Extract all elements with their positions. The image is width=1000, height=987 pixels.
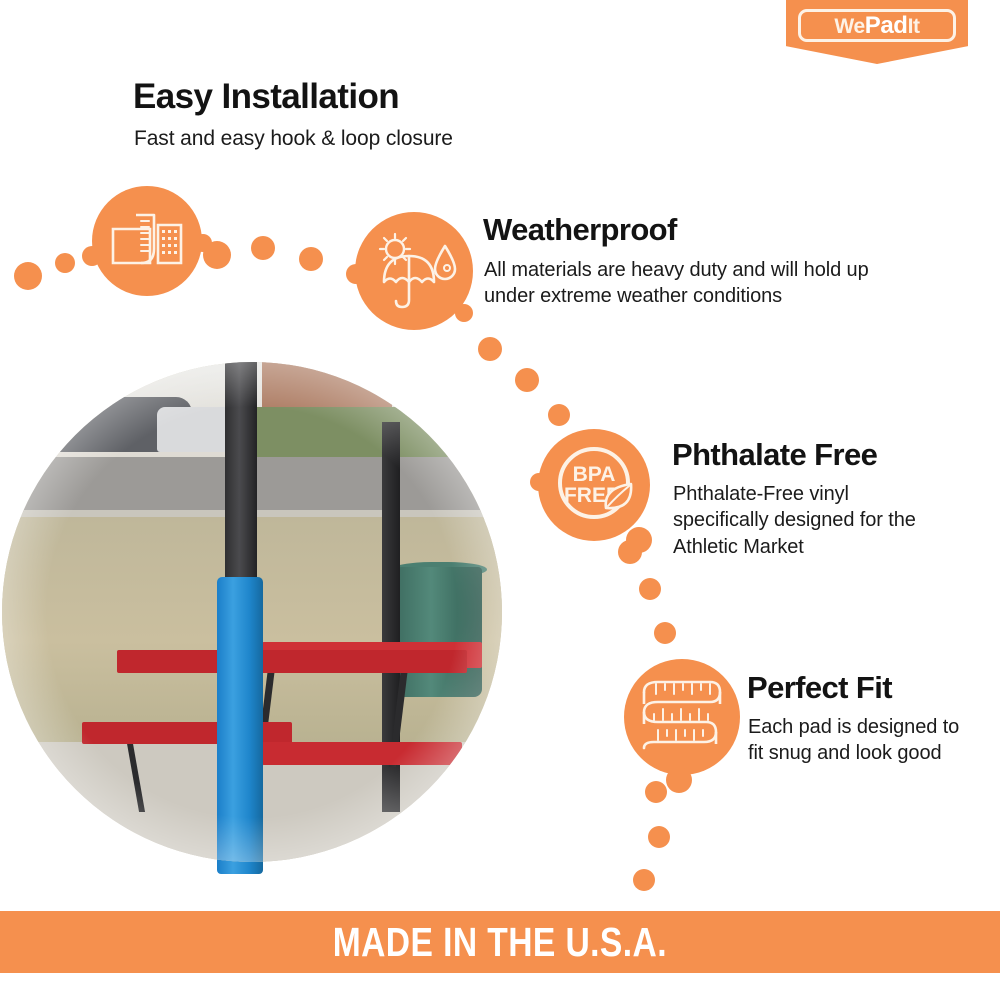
circle-nub bbox=[194, 234, 212, 252]
brand-logo-pad: Pad bbox=[865, 12, 908, 39]
sun-umbrella-raindrop-icon bbox=[355, 212, 473, 330]
trail-dot bbox=[654, 622, 676, 644]
infographic-page: WePadIt Easy Installation Fast and easy … bbox=[0, 0, 1000, 987]
trail-dot bbox=[478, 337, 502, 361]
measuring-tape-icon bbox=[624, 659, 740, 775]
feature-title-perfect-fit: Perfect Fit bbox=[747, 672, 892, 705]
feature-title-weatherproof: Weatherproof bbox=[483, 214, 677, 247]
brand-logo-text: WePadIt bbox=[834, 14, 919, 38]
product-photo bbox=[2, 362, 502, 862]
circle-nub bbox=[626, 527, 652, 553]
circle-nub bbox=[666, 767, 692, 793]
bpa-free-glyph: BPA FREE bbox=[545, 436, 643, 534]
bpa-label-line1: BPA bbox=[573, 463, 616, 486]
trail-dot bbox=[633, 869, 655, 891]
trail-dot bbox=[648, 826, 670, 848]
photo-edge-fade bbox=[2, 362, 502, 862]
measuring-tape-glyph bbox=[636, 676, 728, 758]
trail-dot bbox=[55, 253, 75, 273]
velcro-strap-icon bbox=[92, 186, 202, 296]
velcro-strap-glyph bbox=[110, 211, 184, 271]
made-in-usa-text: MADE IN THE U.S.A. bbox=[333, 919, 667, 966]
trail-dot bbox=[548, 404, 570, 426]
circle-nub bbox=[346, 264, 366, 284]
product-photo-scene bbox=[2, 362, 502, 862]
weather-glyph bbox=[371, 232, 457, 310]
brand-logo-box: WePadIt bbox=[798, 9, 956, 42]
brand-logo-it: It bbox=[908, 15, 920, 38]
feature-body-easy-installation: Fast and easy hook & loop closure bbox=[134, 125, 453, 153]
brand-logo-we: We bbox=[834, 15, 864, 38]
feature-title-easy-installation: Easy Installation bbox=[133, 79, 399, 116]
trail-dot bbox=[251, 236, 275, 260]
trail-dot bbox=[299, 247, 323, 271]
brand-logo-banner: WePadIt bbox=[786, 0, 968, 64]
circle-nub bbox=[82, 246, 102, 266]
circle-nub bbox=[530, 473, 548, 491]
trail-dot bbox=[515, 368, 539, 392]
circle-nub bbox=[455, 304, 473, 322]
trail-dot bbox=[645, 781, 667, 803]
feature-body-phthalate-free: Phthalate-Free vinyl specifically design… bbox=[673, 481, 943, 560]
trail-dot bbox=[14, 262, 42, 290]
feature-title-phthalate-free: Phthalate Free bbox=[672, 439, 877, 472]
feature-body-weatherproof: All materials are heavy duty and will ho… bbox=[484, 257, 914, 310]
bpa-free-leaf-icon: BPA FREE bbox=[538, 429, 650, 541]
trail-dot bbox=[639, 578, 661, 600]
made-in-usa-banner: MADE IN THE U.S.A. bbox=[0, 911, 1000, 973]
feature-body-perfect-fit: Each pad is designed to fit snug and loo… bbox=[748, 714, 976, 767]
